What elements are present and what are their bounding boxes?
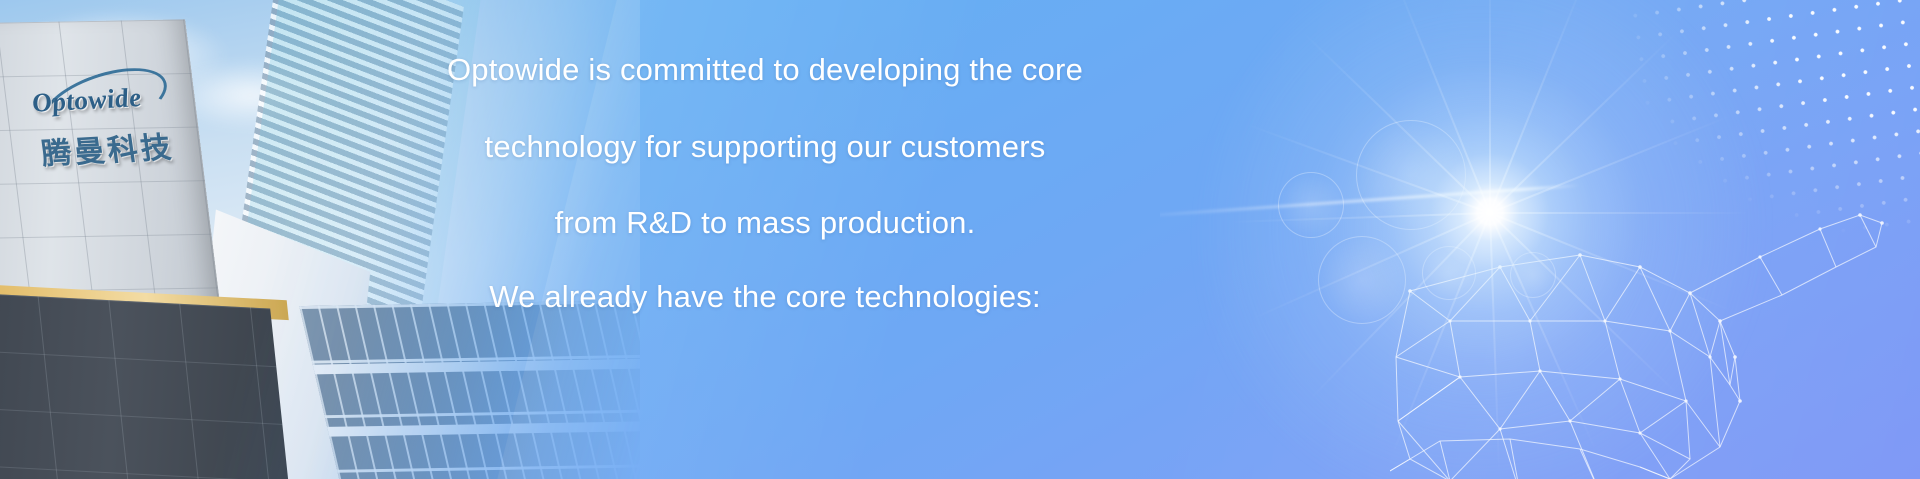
headline-line-2: technology for supporting our customers: [0, 129, 1530, 165]
headline-text-block: Optowide is committed to developing the …: [0, 0, 1530, 479]
hero-banner: Optowide 腾曼科技: [0, 0, 1920, 479]
headline-line-3: from R&D to mass production.: [0, 205, 1530, 241]
headline-line-4: We already have the core technologies:: [0, 279, 1530, 315]
headline-line-1: Optowide is committed to developing the …: [0, 52, 1530, 88]
